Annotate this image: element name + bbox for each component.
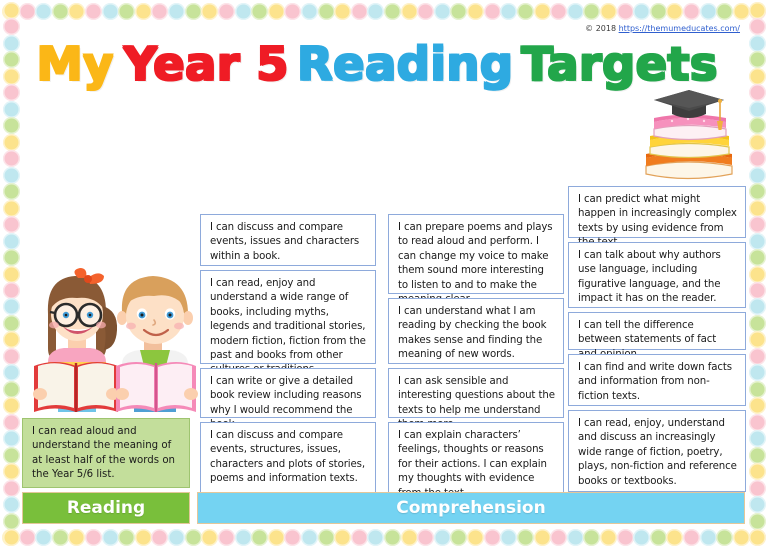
border-dot [617, 529, 634, 546]
border-dot [749, 68, 766, 85]
border-dot [3, 397, 20, 414]
border-dot [318, 529, 335, 546]
border-dot [401, 529, 418, 546]
border-dot [135, 529, 152, 546]
copyright-link[interactable]: https://themumeducates.com/ [619, 24, 740, 33]
border-dot [35, 529, 52, 546]
border-dot [3, 315, 20, 332]
border-dot [583, 3, 600, 20]
border-dot [3, 200, 20, 217]
target-statement-box: I can talk about why authors use languag… [568, 242, 746, 308]
border-dot [102, 529, 119, 546]
border-dot [749, 117, 766, 134]
border-dot [749, 51, 766, 68]
border-dot [683, 3, 700, 20]
target-statement-box: I can predict what might happen in incre… [568, 186, 746, 238]
border-dot [3, 150, 20, 167]
border-dot [749, 529, 766, 546]
border-dot [151, 3, 168, 20]
border-dot [185, 3, 202, 20]
border-dot [3, 381, 20, 398]
graduation-books-illustration [632, 88, 744, 192]
border-dot [749, 480, 766, 497]
border-dot [201, 529, 218, 546]
border-dot [68, 529, 85, 546]
border-dot [168, 3, 185, 20]
border-dot [3, 134, 20, 151]
border-dot [251, 529, 268, 546]
border-dot [318, 3, 335, 20]
border-dot [3, 84, 20, 101]
border-dot [3, 348, 20, 365]
border-dot [467, 529, 484, 546]
border-dot [3, 513, 20, 530]
border-dot [334, 3, 351, 20]
pink-book-icon [654, 115, 726, 140]
border-dot [118, 529, 135, 546]
copyright-notice: © 2018 https://themumeducates.com/ [585, 24, 740, 33]
border-dot [700, 529, 717, 546]
border-dot [218, 3, 235, 20]
border-dot [749, 496, 766, 513]
border-dot [534, 3, 551, 20]
border-dot [235, 3, 252, 20]
border-dot [3, 117, 20, 134]
border-dot [417, 529, 434, 546]
border-dot [633, 3, 650, 20]
border-dot [600, 529, 617, 546]
border-bottom [2, 528, 766, 546]
title-word-my: My [35, 32, 112, 94]
border-dot [3, 233, 20, 250]
target-statement-box: I can find and write down facts and info… [568, 354, 746, 406]
border-dot [3, 68, 20, 85]
border-dot [749, 35, 766, 52]
border-dot [567, 529, 584, 546]
border-dot [118, 3, 135, 20]
red-book-icon [33, 362, 120, 412]
border-dot [749, 414, 766, 431]
border-dot [3, 463, 20, 480]
border-dot [334, 529, 351, 546]
border-dot [367, 3, 384, 20]
border-dot [284, 3, 301, 20]
target-statement-box: I can understand what I am reading by ch… [388, 298, 564, 364]
target-statement-box: I can discuss and compare events, issues… [200, 214, 376, 266]
target-statement-box: I can tell the difference between statem… [568, 312, 746, 350]
border-dot [3, 101, 20, 118]
pink-book-icon-boy [115, 362, 198, 412]
target-statement-box: I can prepare poems and plays to read al… [388, 214, 564, 294]
poster-title: My Year 5 Reading Targets [36, 32, 736, 94]
border-dot [3, 298, 20, 315]
border-dot [749, 18, 766, 35]
border-dot [749, 381, 766, 398]
border-dot [35, 3, 52, 20]
border-dot [201, 3, 218, 20]
border-dot [567, 3, 584, 20]
border-dot [3, 282, 20, 299]
border-dot [749, 397, 766, 414]
children-reading-illustration [18, 262, 200, 420]
border-dot [600, 3, 617, 20]
border-dot [3, 2, 20, 19]
border-dot [3, 447, 20, 464]
border-dot [135, 3, 152, 20]
border-dot [467, 3, 484, 20]
copyright-year: © 2018 [585, 24, 616, 33]
border-dot [351, 3, 368, 20]
border-dot [3, 331, 20, 348]
border-dot [683, 529, 700, 546]
border-dot [749, 84, 766, 101]
border-dot [384, 529, 401, 546]
border-dot [617, 3, 634, 20]
border-dot [517, 529, 534, 546]
border-dot [749, 282, 766, 299]
border-dot [749, 216, 766, 233]
border-dot [749, 430, 766, 447]
border-dot [168, 529, 185, 546]
border-dot [102, 3, 119, 20]
border-dot [3, 35, 20, 52]
border-dot [401, 3, 418, 20]
target-statement-box: I can read, enjoy, understand and discus… [568, 410, 746, 492]
reading-statement-box: I can read aloud and understand the mean… [22, 418, 190, 488]
reading-section-label: Reading [22, 492, 190, 524]
border-right [748, 2, 766, 546]
border-dot [235, 529, 252, 546]
border-dot [500, 3, 517, 20]
border-dot [251, 3, 268, 20]
border-dot [749, 150, 766, 167]
border-dot [749, 364, 766, 381]
border-dot [749, 134, 766, 151]
border-dot [716, 3, 733, 20]
border-dot [19, 3, 36, 20]
border-dot [3, 414, 20, 431]
border-dot [666, 3, 683, 20]
border-dot [749, 183, 766, 200]
border-dot [749, 298, 766, 315]
border-dot [716, 529, 733, 546]
border-dot [384, 3, 401, 20]
border-dot [3, 266, 20, 283]
border-dot [450, 3, 467, 20]
border-dot [500, 529, 517, 546]
border-dot [185, 529, 202, 546]
border-dot [434, 3, 451, 20]
border-dot [749, 331, 766, 348]
border-dot [749, 447, 766, 464]
target-statement-box: I can explain characters’ feelings, thou… [388, 422, 564, 494]
border-dot [484, 3, 501, 20]
border-dot [3, 18, 20, 35]
border-dot [749, 249, 766, 266]
border-dot [3, 496, 20, 513]
border-top [2, 2, 766, 20]
border-dot [218, 529, 235, 546]
target-statement-box: I can read, enjoy and understand a wide … [200, 270, 376, 364]
border-dot [550, 529, 567, 546]
title-word-targets: Targets [520, 32, 717, 94]
border-dot [3, 51, 20, 68]
border-dot [68, 3, 85, 20]
border-dot [85, 529, 102, 546]
border-dot [367, 529, 384, 546]
border-dot [633, 529, 650, 546]
border-dot [3, 364, 20, 381]
border-dot [301, 3, 318, 20]
poster-canvas: My Year 5 Reading Targets © 2018 https:/… [0, 0, 768, 548]
border-dot [284, 529, 301, 546]
border-dot [268, 529, 285, 546]
border-dot [52, 3, 69, 20]
border-dot [3, 249, 20, 266]
title-word-year5: Year 5 [122, 32, 287, 94]
border-dot [700, 3, 717, 20]
border-dot [3, 183, 20, 200]
border-dot [650, 529, 667, 546]
target-statement-box: I can discuss and compare events, struct… [200, 422, 376, 494]
border-dot [749, 315, 766, 332]
border-dot [666, 529, 683, 546]
border-dot [301, 529, 318, 546]
border-dot [650, 3, 667, 20]
border-dot [3, 167, 20, 184]
border-dot [268, 3, 285, 20]
border-dot [749, 266, 766, 283]
border-dot [517, 3, 534, 20]
border-dot [450, 529, 467, 546]
border-dot [19, 529, 36, 546]
border-dot [3, 216, 20, 233]
comprehension-section-label: Comprehension [197, 492, 745, 524]
border-dot [151, 529, 168, 546]
border-dot [52, 529, 69, 546]
border-dot [583, 529, 600, 546]
border-dot [534, 529, 551, 546]
border-dot [85, 3, 102, 20]
border-dot [749, 2, 766, 19]
border-dot [351, 529, 368, 546]
title-word-reading: Reading [296, 32, 512, 94]
border-dot [550, 3, 567, 20]
border-dot [484, 529, 501, 546]
border-dot [749, 167, 766, 184]
target-statement-box: I can write or give a detailed book revi… [200, 368, 376, 418]
border-dot [3, 529, 20, 546]
border-dot [749, 348, 766, 365]
target-statement-box: I can ask sensible and interesting quest… [388, 368, 564, 418]
border-dot [749, 513, 766, 530]
border-dot [434, 529, 451, 546]
border-dot [3, 430, 20, 447]
border-dot [417, 3, 434, 20]
border-dot [749, 200, 766, 217]
border-dot [749, 233, 766, 250]
border-dot [3, 480, 20, 497]
border-dot [749, 463, 766, 480]
border-dot [749, 101, 766, 118]
